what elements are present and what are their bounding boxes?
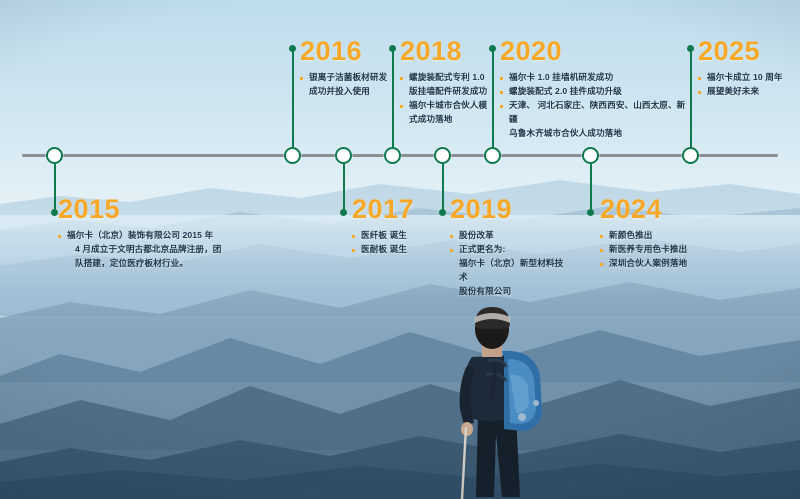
stem-2024 bbox=[590, 162, 592, 212]
bullet-item: 队搭建，定位医疗板材行业。 bbox=[58, 257, 233, 271]
milestone-bullets-2015: 福尔卡（北京）装饰有限公司 2015 年 4 月成立于文明古都北京品牌注册，团 … bbox=[58, 229, 233, 271]
milestone-2018[interactable]: 2018 螺旋装配式专利 1.0 版挂墙配件研发成功 福尔卡城市合伙人模 式成功… bbox=[400, 38, 500, 127]
bullet-item: 展望美好未来 bbox=[698, 85, 793, 99]
bullet-item: 螺旋装配式专利 1.0 bbox=[400, 71, 500, 85]
bullet-item: 版挂墙配件研发成功 bbox=[400, 85, 500, 99]
milestone-year-2015: 2015 bbox=[58, 196, 233, 223]
milestone-2016[interactable]: 2016 银离子洁菌板材研发 成功并投入使用 bbox=[300, 38, 395, 99]
milestone-2020[interactable]: 2020 福尔卡 1.0 挂墙机研发成功 螺旋装配式 2.0 挂件成功升级 天津… bbox=[500, 38, 690, 141]
stem-dot-2017 bbox=[340, 209, 347, 216]
milestone-bullets-2024: 新颜色推出 新医养专用色卡推出 深圳合伙人案例落地 bbox=[600, 229, 730, 271]
bullet-item: 新颜色推出 bbox=[600, 229, 730, 243]
bullet-item: 正式更名为: bbox=[450, 243, 570, 257]
bullet-item: 福尔卡成立 10 周年 bbox=[698, 71, 793, 85]
stem-dot-2024 bbox=[587, 209, 594, 216]
milestone-year-2020: 2020 bbox=[500, 38, 690, 65]
bullet-item: 新医养专用色卡推出 bbox=[600, 243, 730, 257]
milestone-bullets-2016: 银离子洁菌板材研发 成功并投入使用 bbox=[300, 71, 395, 99]
bullet-item: 4 月成立于文明古都北京品牌注册，团 bbox=[58, 243, 233, 257]
milestone-year-2025: 2025 bbox=[698, 38, 793, 65]
milestone-bullets-2020: 福尔卡 1.0 挂墙机研发成功 螺旋装配式 2.0 挂件成功升级 天津、 河北石… bbox=[500, 71, 690, 141]
milestone-bullets-2018: 螺旋装配式专利 1.0 版挂墙配件研发成功 福尔卡城市合伙人模 式成功落地 bbox=[400, 71, 500, 127]
bullet-item: 福尔卡城市合伙人模 bbox=[400, 99, 500, 113]
timeline-node-2018[interactable] bbox=[384, 147, 401, 164]
milestone-2017[interactable]: 2017 医纤板 诞生 医耐板 诞生 bbox=[352, 196, 432, 257]
hiker-figure bbox=[430, 305, 560, 499]
bullet-item: 福尔卡 1.0 挂墙机研发成功 bbox=[500, 71, 690, 85]
bullet-item: 成功并投入使用 bbox=[300, 85, 395, 99]
stem-2019 bbox=[442, 162, 444, 212]
bullet-item: 式成功落地 bbox=[400, 113, 500, 127]
bullet-item: 银离子洁菌板材研发 bbox=[300, 71, 395, 85]
infographic-canvas: 2016 银离子洁菌板材研发 成功并投入使用 2018 螺旋装配式专利 1.0 … bbox=[0, 0, 800, 499]
milestone-bullets-2025: 福尔卡成立 10 周年 展望美好未来 bbox=[698, 71, 793, 99]
stem-dot-2015 bbox=[51, 209, 58, 216]
milestone-year-2016: 2016 bbox=[300, 38, 395, 65]
bullet-item: 医耐板 诞生 bbox=[352, 243, 432, 257]
foreground-ridge bbox=[0, 420, 800, 499]
timeline-node-2025[interactable] bbox=[682, 147, 699, 164]
milestone-2024[interactable]: 2024 新颜色推出 新医养专用色卡推出 深圳合伙人案例落地 bbox=[600, 196, 730, 271]
milestone-2025[interactable]: 2025 福尔卡成立 10 周年 展望美好未来 bbox=[698, 38, 793, 99]
bullet-item: 医纤板 诞生 bbox=[352, 229, 432, 243]
milestone-2019[interactable]: 2019 股份改革 正式更名为: 福尔卡（北京）新型材料技术 股份有限公司 bbox=[450, 196, 570, 299]
bullet-item: 福尔卡（北京）新型材料技术 bbox=[450, 257, 570, 285]
milestone-bullets-2019: 股份改革 正式更名为: 福尔卡（北京）新型材料技术 股份有限公司 bbox=[450, 229, 570, 299]
bullet-item: 乌鲁木齐城市合伙人成功落地 bbox=[500, 127, 690, 141]
bullet-item: 天津、 河北石家庄、陕西西安、山西太原、新疆 bbox=[500, 99, 690, 127]
bullet-item: 股份有限公司 bbox=[450, 285, 570, 299]
stem-2016 bbox=[292, 48, 294, 148]
bullet-item: 螺旋装配式 2.0 挂件成功升级 bbox=[500, 85, 690, 99]
stem-2015 bbox=[54, 162, 56, 212]
bullet-item: 福尔卡（北京）装饰有限公司 2015 年 bbox=[58, 229, 233, 243]
bullet-item: 深圳合伙人案例落地 bbox=[600, 257, 730, 271]
bullet-item: 股份改革 bbox=[450, 229, 570, 243]
milestone-year-2018: 2018 bbox=[400, 38, 500, 65]
milestone-2015[interactable]: 2015 福尔卡（北京）装饰有限公司 2015 年 4 月成立于文明古都北京品牌… bbox=[58, 196, 233, 271]
milestone-year-2017: 2017 bbox=[352, 196, 432, 223]
milestone-bullets-2017: 医纤板 诞生 医耐板 诞生 bbox=[352, 229, 432, 257]
milestone-year-2019: 2019 bbox=[450, 196, 570, 223]
timeline-node-2016[interactable] bbox=[284, 147, 301, 164]
stem-2017 bbox=[343, 162, 345, 212]
milestone-year-2024: 2024 bbox=[600, 196, 730, 223]
timeline-node-2020[interactable] bbox=[484, 147, 501, 164]
stem-dot-2016 bbox=[289, 45, 296, 52]
stem-dot-2019 bbox=[439, 209, 446, 216]
